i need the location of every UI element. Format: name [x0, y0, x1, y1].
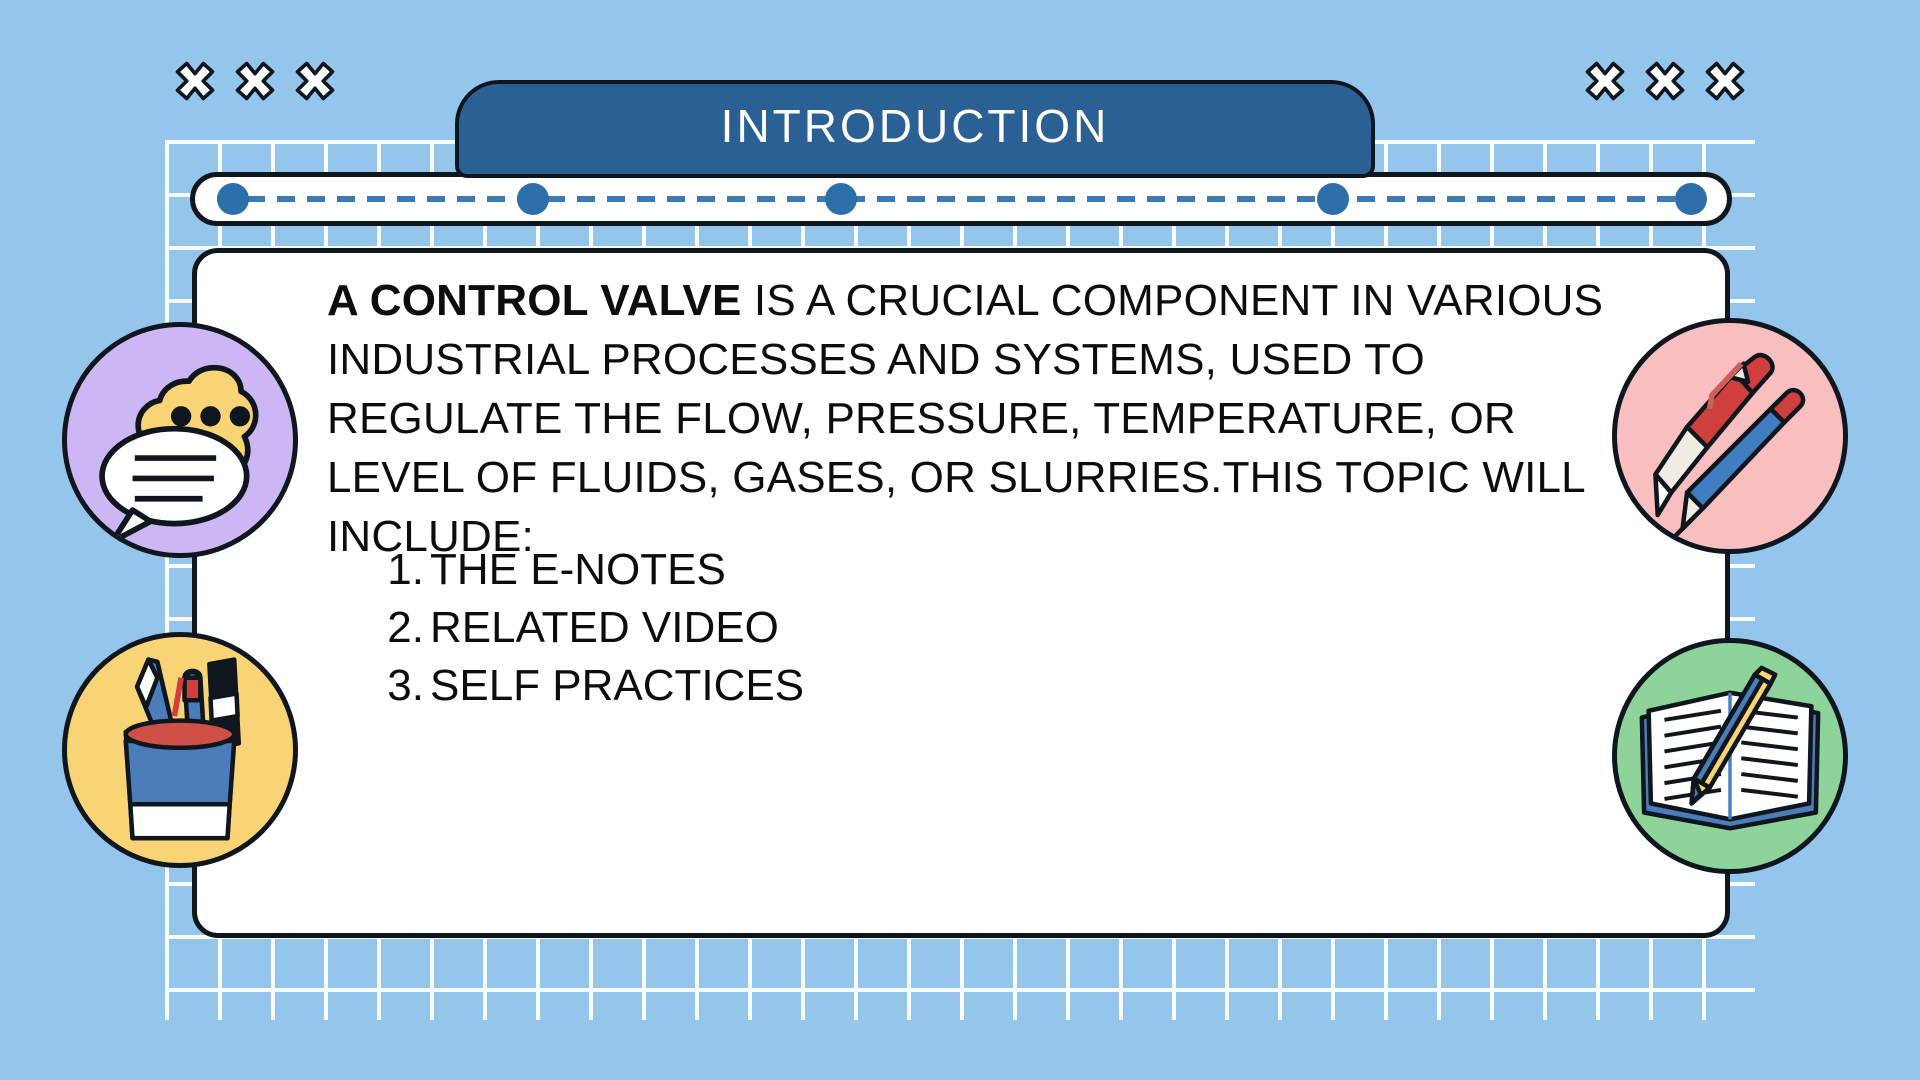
list-item-number: 2. — [372, 599, 424, 657]
progress-dot[interactable] — [1675, 183, 1707, 215]
progress-bar[interactable] — [190, 172, 1732, 226]
list-item-number: 1. — [372, 541, 424, 599]
x-mark-icon — [1582, 58, 1628, 104]
open-book-icon — [1612, 638, 1848, 874]
x-marks-left-group — [172, 58, 338, 104]
pencil-cup-icon — [62, 632, 298, 868]
page-title: INTRODUCTION — [721, 103, 1110, 155]
content-card: A CONTROL VALVE IS A CRUCIAL COMPONENT I… — [192, 248, 1730, 938]
list-item-label: RELATED VIDEO — [430, 599, 779, 657]
list-item: 2. RELATED VIDEO — [372, 599, 804, 657]
list-item-label: THE E-NOTES — [430, 541, 726, 599]
body-paragraph: A CONTROL VALVE IS A CRUCIAL COMPONENT I… — [327, 271, 1627, 566]
list-item-label: SELF PRACTICES — [430, 657, 804, 715]
x-mark-icon — [292, 58, 338, 104]
progress-dot[interactable] — [517, 183, 549, 215]
progress-dot[interactable] — [825, 183, 857, 215]
progress-track — [217, 196, 1705, 202]
x-marks-right-group — [1582, 58, 1748, 104]
pens-icon — [1612, 318, 1848, 554]
x-mark-icon — [232, 58, 278, 104]
list-item-number: 3. — [372, 657, 424, 715]
list-item: 3. SELF PRACTICES — [372, 657, 804, 715]
progress-dot[interactable] — [1317, 183, 1349, 215]
x-mark-icon — [1702, 58, 1748, 104]
lead-term: A CONTROL VALVE — [327, 276, 742, 325]
speech-bubbles-icon — [62, 322, 298, 558]
topic-list: 1. THE E-NOTES 2. RELATED VIDEO 3. SELF … — [372, 541, 804, 715]
list-item: 1. THE E-NOTES — [372, 541, 804, 599]
x-mark-icon — [1642, 58, 1688, 104]
progress-dot[interactable] — [217, 183, 249, 215]
slide-title-banner: INTRODUCTION — [455, 80, 1375, 178]
x-mark-icon — [172, 58, 218, 104]
